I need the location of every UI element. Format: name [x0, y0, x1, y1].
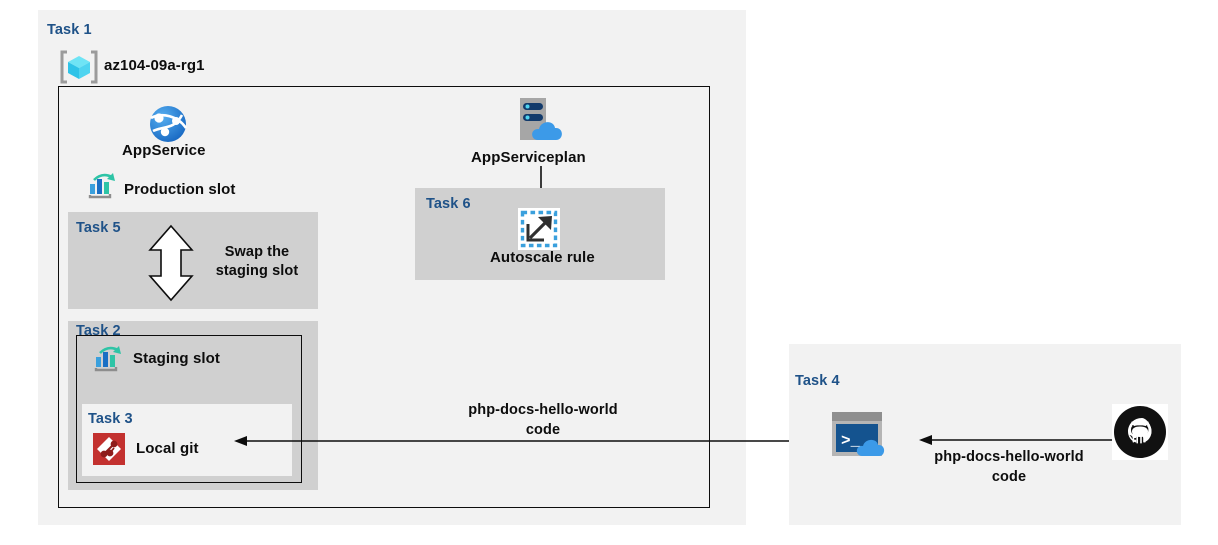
cloud-shell-icon: >_: [832, 412, 896, 458]
github-to-shell-label-line1: php-docs-hello-world: [934, 449, 1083, 465]
app-service-plan-label: AppServiceplan: [471, 149, 586, 166]
github-to-shell-edge-label: php-docs-hello-worldcode: [909, 448, 1109, 487]
deployment-slot-icon: [88, 173, 118, 199]
arrow-shell-to-git: [230, 432, 820, 450]
shell-to-git-label-line1: php-docs-hello-world: [468, 402, 617, 418]
git-icon: [93, 433, 125, 465]
staging-slot-label: Staging slot: [133, 350, 220, 367]
app-service-icon: [146, 104, 190, 144]
swap-label-line1: Swap the: [225, 244, 289, 260]
task5-label: Task 5: [76, 220, 121, 236]
production-slot-label: Production slot: [124, 181, 236, 198]
app-service-plan-icon: [512, 96, 570, 148]
swap-label: Swap thestaging slot: [202, 243, 312, 281]
resource-group-icon: [60, 49, 98, 85]
app-service-label: AppService: [122, 142, 206, 159]
diagram-canvas: Task 1 az104-09a-rg1: [0, 0, 1218, 545]
task4-label: Task 4: [795, 373, 840, 389]
local-git-label: Local git: [136, 440, 199, 457]
autoscale-icon: [518, 208, 560, 250]
arrow-github-to-shell: [915, 431, 1115, 449]
resource-group-label: az104-09a-rg1: [104, 57, 205, 74]
deployment-slot-icon: [94, 346, 124, 372]
task1-label: Task 1: [47, 22, 92, 38]
svg-text:>_: >_: [841, 432, 861, 450]
task6-label: Task 6: [426, 196, 471, 212]
swap-label-line2: staging slot: [216, 263, 299, 279]
task3-label: Task 3: [88, 411, 133, 427]
github-to-shell-label-line2: code: [992, 469, 1026, 485]
swap-arrow-icon: [147, 224, 195, 302]
github-icon: [1112, 404, 1168, 460]
autoscale-rule-label: Autoscale rule: [490, 249, 595, 266]
